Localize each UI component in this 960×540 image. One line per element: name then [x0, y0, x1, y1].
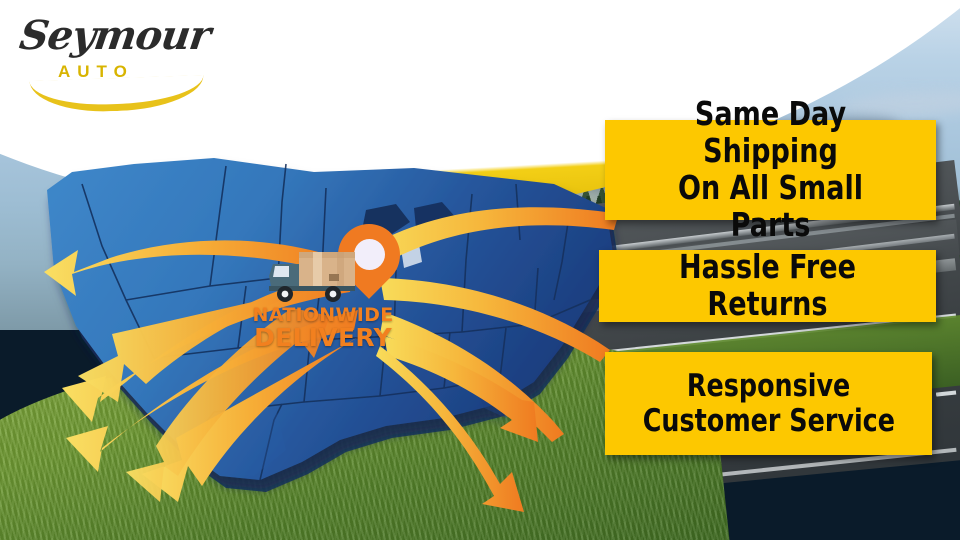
delivery-truck-icon	[267, 250, 363, 306]
panel-3-line-2: Customer Service	[642, 404, 894, 439]
logo-subtext: AUTO	[58, 62, 134, 82]
seymour-auto-logo[interactable]: Seymour AUTO	[12, 8, 212, 108]
promo-banner: NATIONWIDE DELIVERY Seymour AUTO Same Da…	[0, 0, 960, 540]
panel-2-line-1: Hassle Free Returns	[629, 249, 905, 323]
panel-same-day-shipping[interactable]: Same Day Shipping On All Small Parts	[605, 120, 936, 220]
panel-hassle-free-returns[interactable]: Hassle Free Returns	[599, 250, 936, 322]
panel-responsive-customer-service[interactable]: Responsive Customer Service	[605, 352, 932, 455]
nationwide-delivery-label: NATIONWIDE DELIVERY	[248, 306, 398, 351]
delivery-line: DELIVERY	[248, 325, 398, 351]
logo-wordmark: Seymour	[17, 12, 213, 59]
panel-1-line-2: On All Small Parts	[635, 170, 906, 244]
panel-1-line-1: Same Day Shipping	[635, 96, 906, 170]
panel-3-line-1: Responsive	[687, 369, 850, 404]
